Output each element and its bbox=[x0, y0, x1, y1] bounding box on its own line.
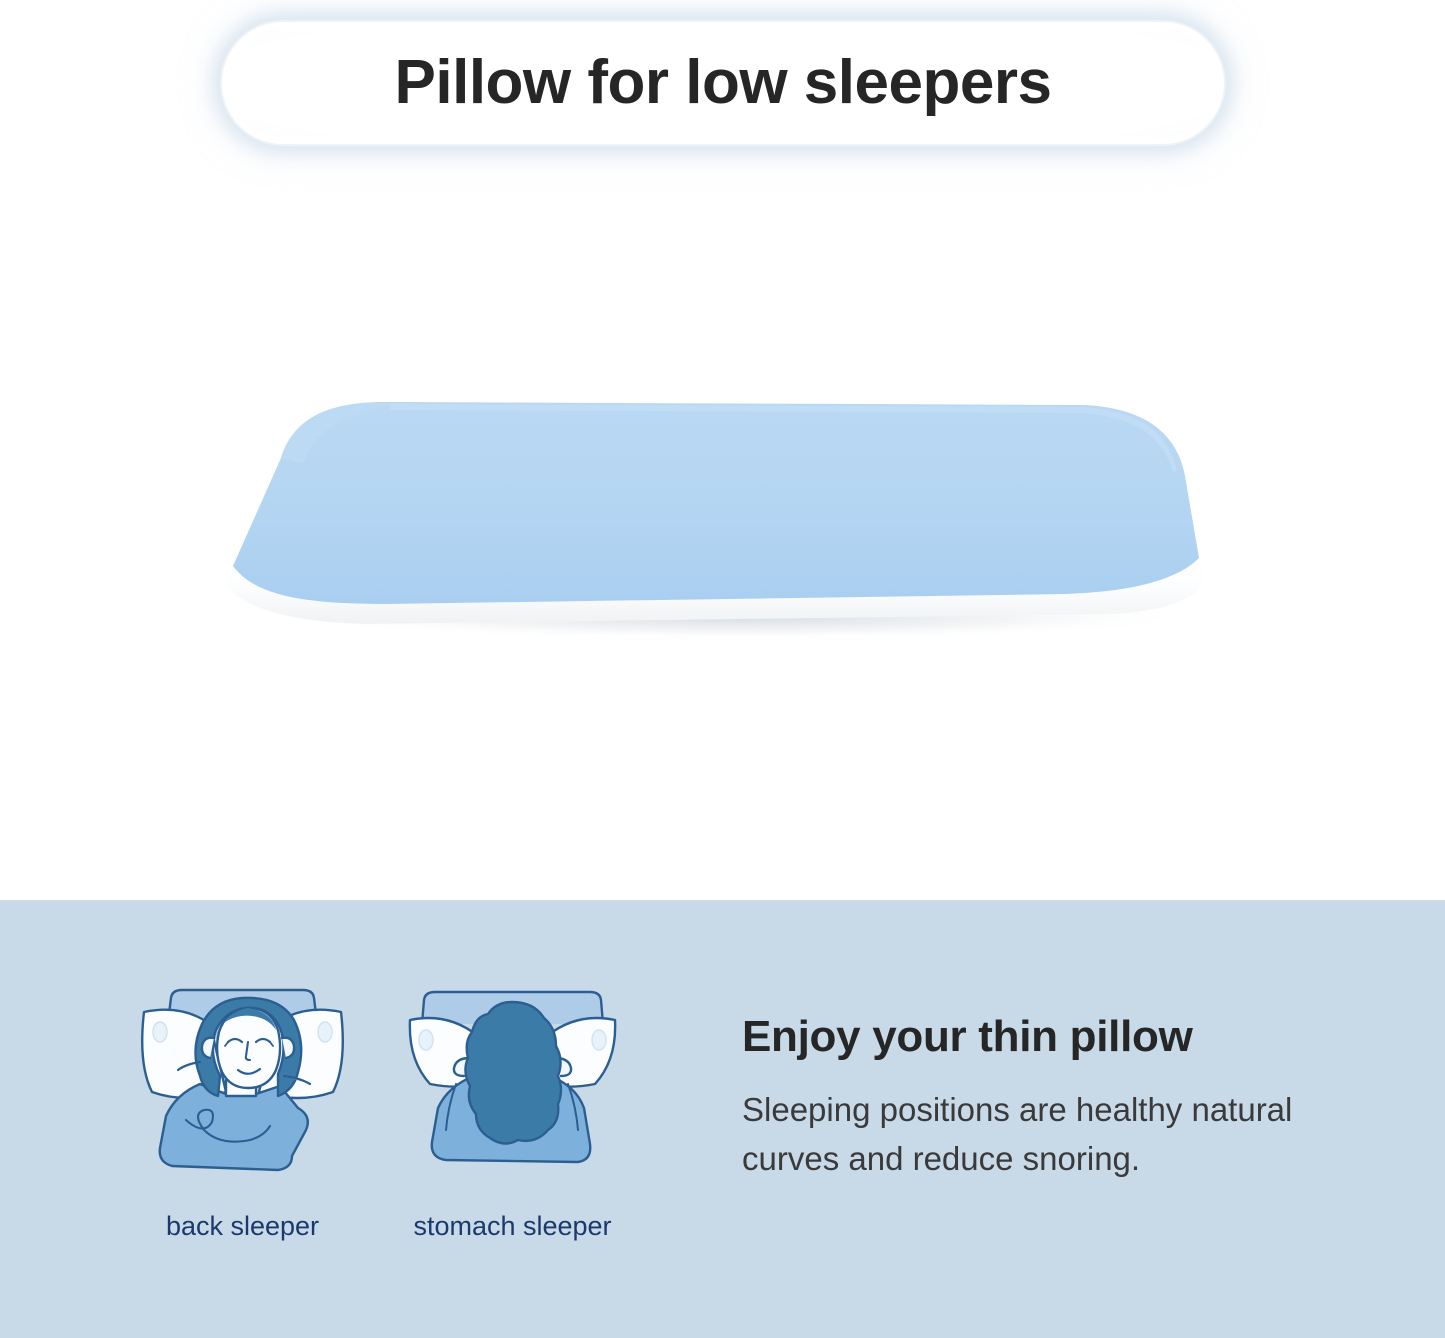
sleeper-label-stomach: stomach sleeper bbox=[413, 1213, 611, 1240]
page-title: Pillow for low sleepers bbox=[395, 52, 1052, 114]
hero-section: Pillow for low sleepers bbox=[0, 0, 1445, 900]
sleeper-positions-group: back sleeper bbox=[130, 980, 625, 1240]
info-band-section: back sleeper bbox=[0, 900, 1445, 1338]
product-infographic: Pillow for low sleepers bbox=[0, 0, 1445, 1338]
title-pill-inner: Pillow for low sleepers bbox=[229, 29, 1217, 137]
back-sleeper-icon bbox=[130, 980, 355, 1195]
sleeper-label-back: back sleeper bbox=[166, 1213, 319, 1240]
pillow-illustration bbox=[185, 360, 1255, 660]
pillow-icon bbox=[185, 360, 1255, 660]
info-copy-block: Enjoy your thin pillow Sleeping position… bbox=[742, 1014, 1392, 1183]
title-pill-badge: Pillow for low sleepers bbox=[222, 22, 1224, 144]
info-heading: Enjoy your thin pillow bbox=[742, 1014, 1392, 1060]
stomach-sleeper-icon bbox=[400, 980, 625, 1195]
info-body-text: Sleeping positions are healthy natural c… bbox=[742, 1086, 1392, 1183]
sleeper-card-back: back sleeper bbox=[130, 980, 355, 1240]
sleeper-card-stomach: stomach sleeper bbox=[400, 980, 625, 1240]
